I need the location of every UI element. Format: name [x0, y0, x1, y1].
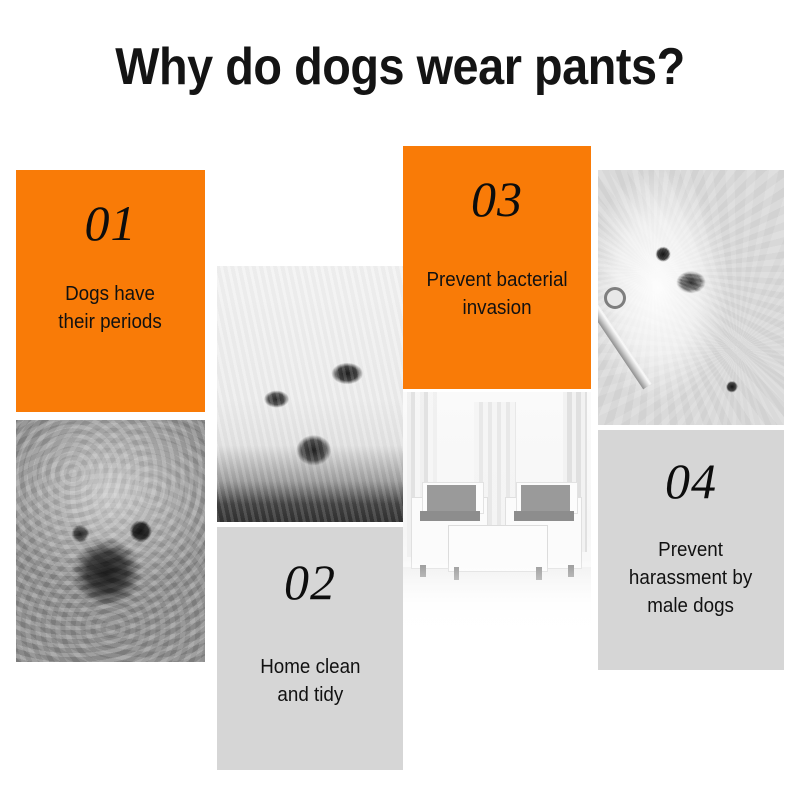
card-04-description-line-1: Prevent [629, 536, 752, 564]
card-02-number: 02 [284, 557, 336, 607]
armchair-left-seat [420, 511, 480, 521]
card-01-description: Dogs have their periods [59, 280, 162, 336]
card-04[interactable]: 04 Prevent harassment by male dogs [598, 430, 784, 670]
two-white-dogs-image [598, 170, 784, 425]
white-dog-fur-texture [217, 266, 403, 522]
card-02-description-line-1: Home clean [260, 653, 360, 681]
armchair-left-cushion [427, 485, 476, 513]
infographic-poster: Why do dogs wear pants? 01 Dogs have the… [0, 0, 800, 800]
poodle-fur-texture [16, 420, 205, 662]
card-03-description-line-1: Prevent bacterial [426, 266, 567, 294]
card-02[interactable]: 02 Home clean and tidy [217, 527, 403, 770]
card-04-description-line-3: male dogs [629, 592, 752, 620]
card-01[interactable]: 01 Dogs have their periods [16, 170, 205, 412]
card-03[interactable]: 03 Prevent bacterial invasion [403, 146, 591, 389]
photo-bottom-fade [403, 557, 591, 642]
card-04-description-line-2: harassment by [629, 564, 752, 592]
white-dog-face-image [217, 266, 403, 522]
card-03-number: 03 [471, 174, 523, 224]
card-01-description-line-1: Dogs have [59, 280, 162, 308]
armchair-right-seat [514, 511, 574, 521]
living-room-image [403, 392, 591, 642]
two-white-dogs-photo [598, 170, 784, 425]
card-03-description: Prevent bacterial invasion [426, 266, 567, 322]
card-01-number: 01 [85, 198, 137, 248]
armchair-right-cushion [521, 485, 570, 513]
poodle-puppy-image [16, 420, 205, 662]
card-03-description-line-2: invasion [426, 294, 567, 322]
living-room-photo [403, 392, 591, 642]
pomeranian-fur-texture [598, 170, 784, 425]
card-02-description: Home clean and tidy [260, 653, 360, 709]
page-title: Why do dogs wear pants? [40, 36, 760, 98]
card-04-description: Prevent harassment by male dogs [629, 536, 752, 620]
white-dog-face-photo [217, 266, 403, 522]
card-04-number: 04 [665, 456, 717, 506]
poodle-puppy-photo [16, 420, 205, 662]
card-01-description-line-2: their periods [59, 308, 162, 336]
collar-ring [604, 287, 626, 309]
card-02-description-line-2: and tidy [260, 681, 360, 709]
